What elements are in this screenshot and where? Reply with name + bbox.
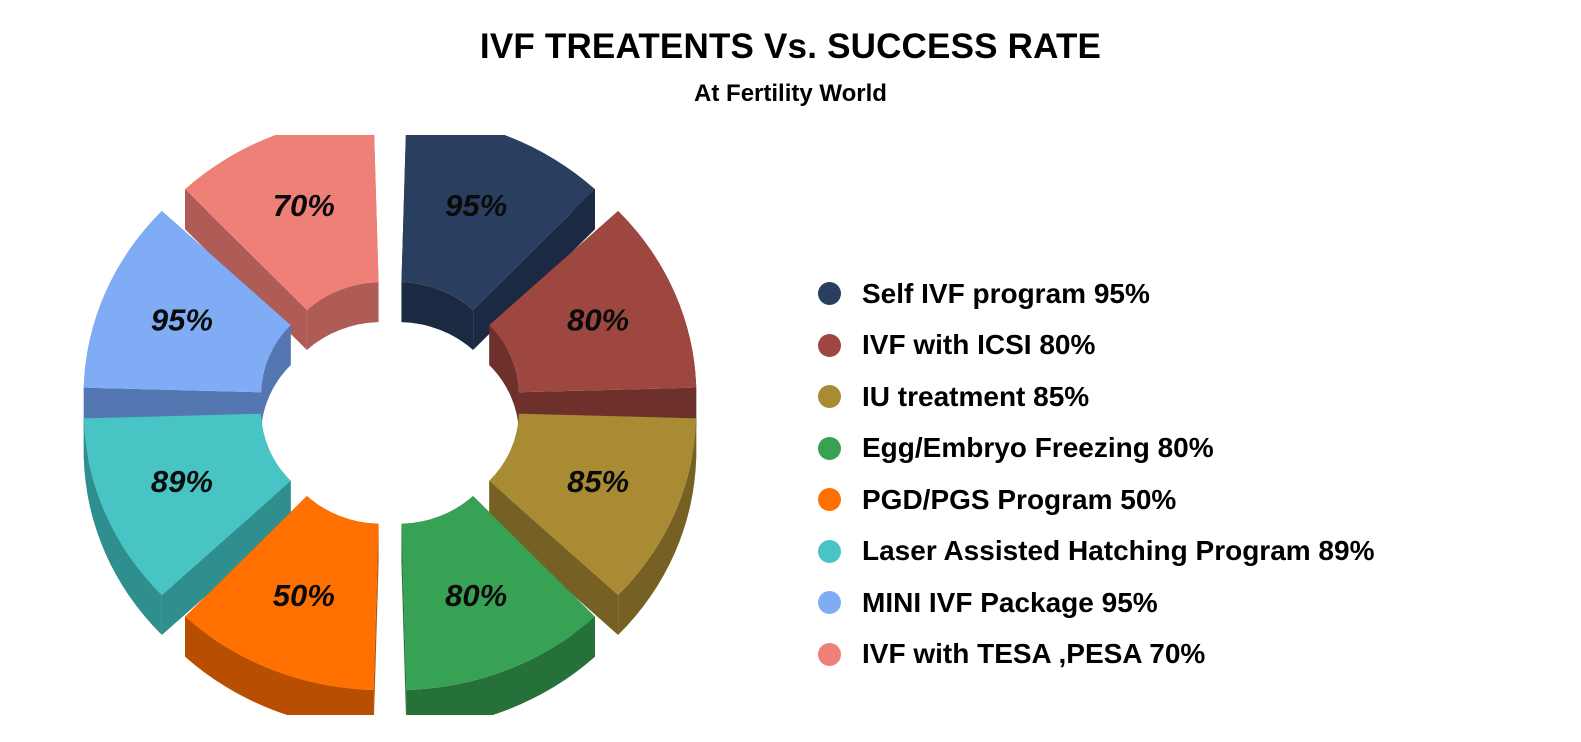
legend-color-swatch-icon — [818, 488, 841, 511]
legend-item[interactable]: MINI IVF Package 95% — [818, 577, 1573, 629]
legend-item-label: Self IVF program 95% — [862, 280, 1150, 308]
legend-item[interactable]: Laser Assisted Hatching Program 89% — [818, 526, 1573, 578]
legend-item-label: PGD/PGS Program 50% — [862, 486, 1176, 514]
legend: Self IVF program 95%IVF with ICSI 80%IU … — [818, 268, 1573, 680]
legend-item-label: IVF with ICSI 80% — [862, 331, 1095, 359]
pie-slice-data-label: 95% — [151, 302, 213, 337]
pie-slice-data-label: 85% — [567, 464, 629, 499]
legend-item-label: Egg/Embryo Freezing 80% — [862, 434, 1214, 462]
chart-subtitle: At Fertility World — [0, 67, 1581, 107]
page-title: IVF TREATENTS Vs. SUCCESS RATE — [0, 0, 1581, 67]
pie-slice-data-label: 89% — [151, 464, 213, 499]
legend-item-label: Laser Assisted Hatching Program 89% — [862, 537, 1374, 565]
pie-slice-data-label: 70% — [273, 188, 335, 223]
legend-item[interactable]: Egg/Embryo Freezing 80% — [818, 423, 1573, 475]
legend-item[interactable]: IU treatment 85% — [818, 371, 1573, 423]
title-block: IVF TREATENTS Vs. SUCCESS RATE At Fertil… — [0, 0, 1581, 107]
legend-color-swatch-icon — [818, 282, 841, 305]
pie-slices-layer — [84, 135, 696, 715]
legend-item[interactable]: IVF with TESA ,PESA 70% — [818, 629, 1573, 681]
pie-chart-svg: 70%95%80%95%85%89%80%50% — [30, 135, 820, 715]
legend-color-swatch-icon — [818, 643, 841, 666]
pie-slice-data-label: 95% — [445, 188, 507, 223]
legend-color-swatch-icon — [818, 540, 841, 563]
pie-slice-data-label: 80% — [567, 302, 629, 337]
legend-item[interactable]: Self IVF program 95% — [818, 268, 1573, 320]
legend-item[interactable]: PGD/PGS Program 50% — [818, 474, 1573, 526]
legend-color-swatch-icon — [818, 385, 841, 408]
pie-chart: 70%95%80%95%85%89%80%50% — [30, 135, 820, 715]
legend-item[interactable]: IVF with ICSI 80% — [818, 320, 1573, 372]
legend-color-swatch-icon — [818, 591, 841, 614]
legend-item-label: MINI IVF Package 95% — [862, 589, 1158, 617]
legend-color-swatch-icon — [818, 334, 841, 357]
pie-slice-data-label: 50% — [273, 578, 335, 613]
chart-container: IVF TREATENTS Vs. SUCCESS RATE At Fertil… — [0, 0, 1581, 742]
legend-item-label: IVF with TESA ,PESA 70% — [862, 640, 1205, 668]
pie-slice-data-label: 80% — [445, 578, 507, 613]
legend-color-swatch-icon — [818, 437, 841, 460]
legend-item-label: IU treatment 85% — [862, 383, 1089, 411]
